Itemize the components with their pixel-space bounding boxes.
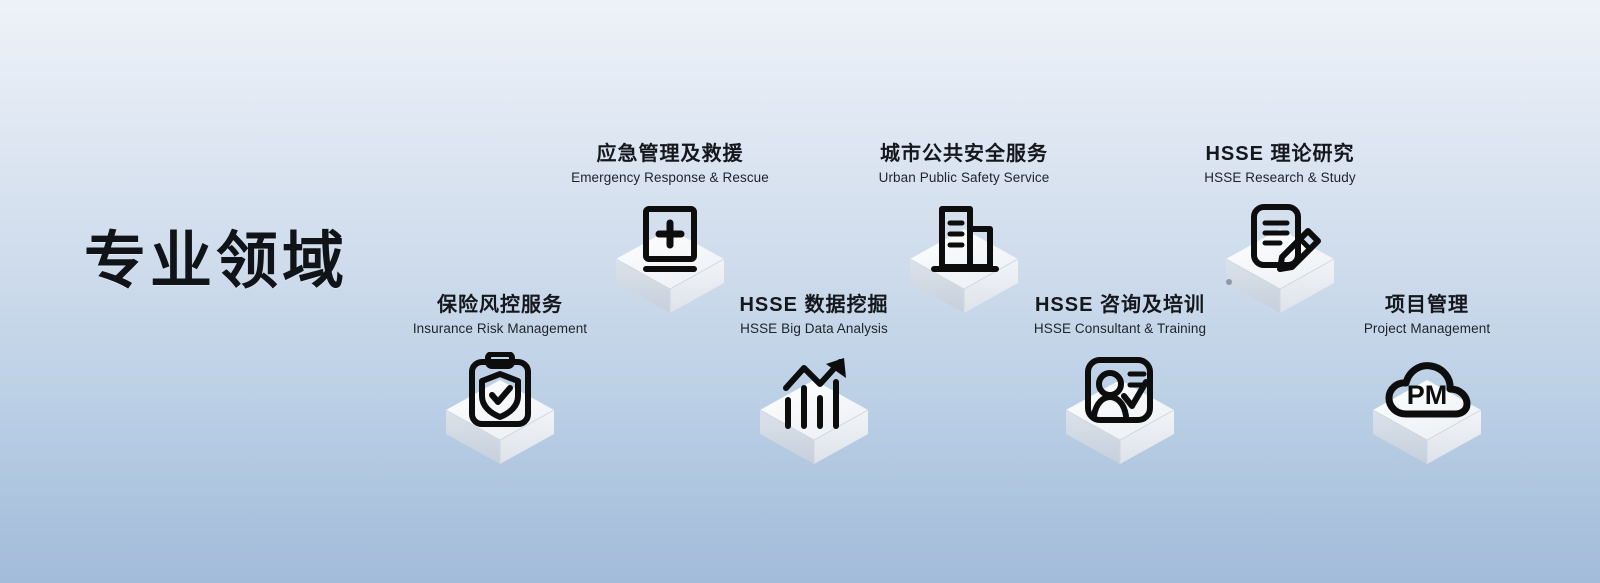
service-label-en: HSSE Big Data Analysis <box>664 319 964 338</box>
service-item-insurance-risk[interactable]: 保险风控服务Insurance Risk Management <box>350 293 650 482</box>
page-title: 专业领域 <box>84 228 348 296</box>
cloud-pm-icon: PM <box>1381 352 1473 444</box>
clipboard-shield-check-icon <box>454 352 546 444</box>
service-label-cn: HSSE 数据挖掘 <box>664 293 964 317</box>
service-pedestal-group <box>970 352 1270 482</box>
service-caption: HSSE 咨询及培训HSSE Consultant & Training <box>970 293 1270 338</box>
service-label-cn: HSSE 理论研究 <box>1130 142 1430 166</box>
service-pedestal-group <box>350 352 650 482</box>
person-card-check-icon <box>1074 352 1166 444</box>
service-caption: HSSE 理论研究HSSE Research & Study <box>1130 142 1430 187</box>
service-label-cn: 项目管理 <box>1277 293 1577 317</box>
document-pencil-icon <box>1234 201 1326 293</box>
city-buildings-icon <box>918 201 1010 293</box>
service-label-cn: 保险风控服务 <box>350 293 650 317</box>
service-item-project-management[interactable]: 项目管理Project ManagementPM <box>1277 293 1577 482</box>
service-label-en: HSSE Research & Study <box>1130 168 1430 187</box>
service-caption: 应急管理及救援Emergency Response & Rescue <box>520 142 820 187</box>
service-caption: 城市公共安全服务Urban Public Safety Service <box>814 142 1114 187</box>
first-aid-document-icon <box>624 201 716 293</box>
service-caption: HSSE 数据挖掘HSSE Big Data Analysis <box>664 293 964 338</box>
service-item-hsse-big-data[interactable]: HSSE 数据挖掘HSSE Big Data Analysis <box>664 293 964 482</box>
service-item-hsse-consultant[interactable]: HSSE 咨询及培训HSSE Consultant & Training <box>970 293 1270 482</box>
service-pedestal-group: PM <box>1277 352 1577 482</box>
service-pedestal-group <box>664 352 964 482</box>
service-label-cn: 应急管理及救援 <box>520 142 820 166</box>
professional-domains-banner: 专业领域 应急管理及救援Emergency Response & Rescue城… <box>0 0 1600 583</box>
service-label-en: Insurance Risk Management <box>350 319 650 338</box>
service-caption: 保险风控服务Insurance Risk Management <box>350 293 650 338</box>
bar-chart-trend-icon <box>768 352 860 444</box>
pedestal-dot-detail <box>1226 279 1232 285</box>
service-label-cn: HSSE 咨询及培训 <box>970 293 1270 317</box>
service-label-en: Project Management <box>1277 319 1577 338</box>
service-label-en: Emergency Response & Rescue <box>520 168 820 187</box>
service-label-en: Urban Public Safety Service <box>814 168 1114 187</box>
service-label-cn: 城市公共安全服务 <box>814 142 1114 166</box>
service-caption: 项目管理Project Management <box>1277 293 1577 338</box>
service-label-en: HSSE Consultant & Training <box>970 319 1270 338</box>
svg-text:PM: PM <box>1407 380 1448 410</box>
